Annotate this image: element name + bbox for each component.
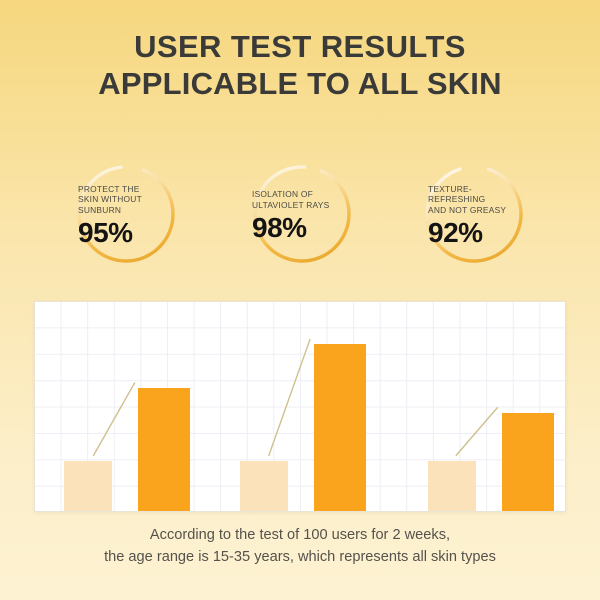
stat-badge-protect-skin: PROTECT THE SKIN WITHOUT SUNBURN 95% bbox=[56, 148, 192, 284]
stat-badge-value: 98% bbox=[252, 212, 368, 243]
bar-before bbox=[428, 461, 476, 511]
bar-before bbox=[64, 461, 112, 511]
stat-badge-texture-refreshing: TEXTURE- REFRESHING AND NOT GREASY 92% bbox=[404, 148, 540, 284]
stat-badge-value: 95% bbox=[78, 217, 192, 248]
bar-after bbox=[502, 413, 554, 511]
stat-badge-content: TEXTURE- REFRESHING AND NOT GREASY 92% bbox=[404, 148, 540, 284]
trend-arrow bbox=[269, 339, 310, 455]
poster-root: USER TEST RESULTS APPLICABLE TO ALL SKIN bbox=[0, 0, 600, 600]
stat-badge-label: PROTECT THE SKIN WITHOUT SUNBURN bbox=[78, 184, 192, 216]
trend-arrow bbox=[456, 408, 497, 456]
stat-badge-content: PROTECT THE SKIN WITHOUT SUNBURN 95% bbox=[56, 148, 192, 284]
stat-badge-label: TEXTURE- REFRESHING AND NOT GREASY bbox=[428, 184, 540, 216]
caption-line-2: the age range is 15-35 years, which repr… bbox=[0, 546, 600, 568]
title-line-1: USER TEST RESULTS bbox=[0, 28, 600, 65]
page-title: USER TEST RESULTS APPLICABLE TO ALL SKIN bbox=[0, 28, 600, 102]
stat-badge-value: 92% bbox=[428, 217, 540, 248]
results-bar-chart bbox=[34, 301, 566, 512]
bar-after bbox=[138, 388, 190, 511]
bar-before bbox=[240, 461, 288, 511]
stat-badge-content: ISOLATION OF ULTAVIOLET RAYS 98% bbox=[232, 148, 368, 284]
chart-caption: According to the test of 100 users for 2… bbox=[0, 524, 600, 568]
chart-plot-area bbox=[35, 302, 565, 511]
title-line-2: APPLICABLE TO ALL SKIN bbox=[0, 65, 600, 102]
stat-badge-label: ISOLATION OF ULTAVIOLET RAYS bbox=[252, 189, 368, 210]
trend-arrow bbox=[94, 383, 135, 455]
trend-arrow-layer bbox=[35, 302, 565, 511]
bar-after bbox=[314, 344, 366, 511]
caption-line-1: According to the test of 100 users for 2… bbox=[0, 524, 600, 546]
stat-badge-uv-isolation: ISOLATION OF ULTAVIOLET RAYS 98% bbox=[232, 148, 368, 284]
stat-badge-group: PROTECT THE SKIN WITHOUT SUNBURN 95% bbox=[0, 148, 600, 288]
